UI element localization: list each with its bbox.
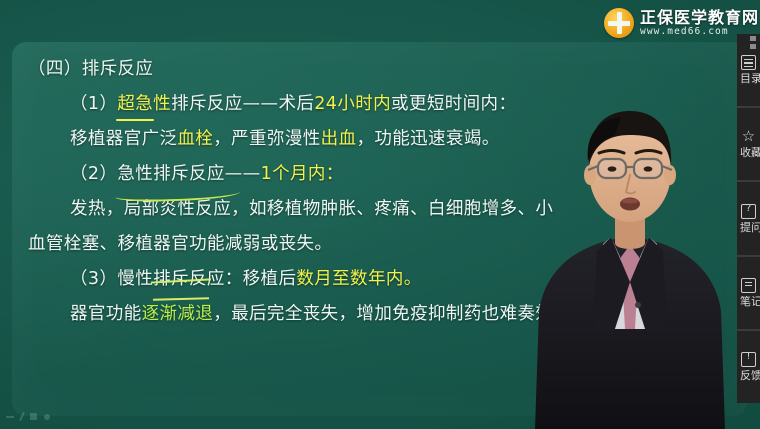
sidebar-item-question[interactable]: 提问 <box>737 182 760 256</box>
right-sidebar[interactable]: 目录 ☆ 收藏 提问 笔记 反馈 <box>737 34 760 403</box>
slide-artifacts <box>6 412 50 421</box>
sidebar-item-feedback[interactable]: 反馈 <box>737 331 760 403</box>
slide-text-body: （四）排斥反应 （1）超急性排斥反应——术后24小时内或更短时间内： 移植器官广… <box>0 52 620 332</box>
sidebar-item-notes[interactable]: 笔记 <box>737 257 760 331</box>
slide-heading: （四）排斥反应 <box>14 52 614 87</box>
sidebar-item-favorites-label: 收藏 <box>737 147 760 159</box>
slide-line-5: 血管栓塞、移植器官功能减弱或丧失。 <box>14 227 614 262</box>
slide-line-3: （2）急性排斥反应——1个月内： <box>14 157 614 192</box>
video-stage[interactable]: （四）排斥反应 （1）超急性排斥反应——术后24小时内或更短时间内： 移植器官广… <box>0 0 760 429</box>
star-icon: ☆ <box>741 129 756 144</box>
slide-line-4: 发热，局部炎性反应，如移植物肿胀、疼痛、白细胞增多、小 <box>14 192 614 227</box>
slide-line-6: （3）慢性排斥反应：移植后数月至数年内。 <box>14 262 614 297</box>
sidebar-item-catalog[interactable]: 目录 <box>737 34 760 108</box>
question-box-icon <box>741 204 756 219</box>
logo-name: 正保医学教育网 <box>640 9 759 26</box>
sidebar-item-feedback-label: 反馈 <box>737 370 760 382</box>
feedback-box-icon <box>741 352 756 367</box>
sidebar-item-notes-label: 笔记 <box>737 296 760 308</box>
slide-line-7: 器官功能逐渐减退，最后完全丧失，增加免疫抑制药也难奏效 <box>14 297 614 332</box>
slide-line-2: 移植器官广泛血栓，严重弥漫性出血，功能迅速衰竭。 <box>14 122 614 157</box>
site-logo: 正保医学教育网 www.med66.com <box>604 6 759 40</box>
video-player[interactable]: （四）排斥反应 （1）超急性排斥反应——术后24小时内或更短时间内： 移植器官广… <box>0 0 760 429</box>
sidebar-item-question-label: 提问 <box>737 222 760 234</box>
note-box-icon <box>741 278 756 293</box>
medical-cross-icon <box>604 8 634 38</box>
list-icon <box>741 55 756 70</box>
sidebar-drag-handle[interactable] <box>750 36 756 49</box>
sidebar-item-catalog-label: 目录 <box>737 73 760 85</box>
sidebar-item-favorites[interactable]: ☆ 收藏 <box>737 108 760 182</box>
slide-line-1: （1）超急性排斥反应——术后24小时内或更短时间内： <box>14 87 614 122</box>
